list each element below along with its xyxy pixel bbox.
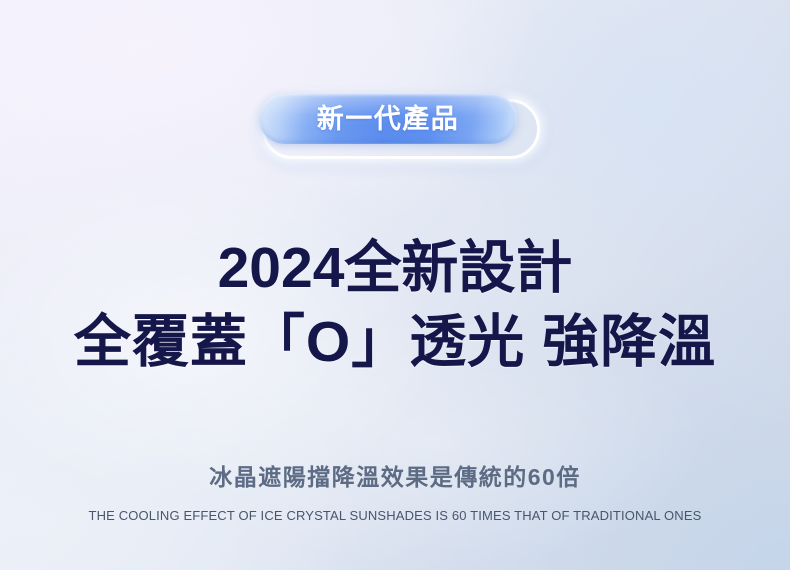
badge-shell: 新一代產品 [259,94,531,152]
new-generation-badge[interactable]: 新一代產品 [259,94,517,144]
headline-block: 2024全新設計 全覆蓋「O」透光 強降溫 [0,238,790,373]
caption-block: 冰晶遮陽擋降溫效果是傳統的60倍 THE COOLING EFFECT OF I… [0,463,790,525]
promo-banner: 新一代產品 2024全新設計 全覆蓋「O」透光 強降溫 冰晶遮陽擋降溫效果是傳統… [0,0,790,570]
badge-container: 新一代產品 [0,92,790,154]
headline-primary: 2024全新設計 [0,238,790,298]
caption-chinese: 冰晶遮陽擋降溫效果是傳統的60倍 [0,463,790,493]
headline-secondary: 全覆蓋「O」透光 強降溫 [0,312,790,372]
badge-label: 新一代產品 [317,106,460,133]
caption-english: THE COOLING EFFECT OF ICE CRYSTAL SUNSHA… [0,508,790,525]
